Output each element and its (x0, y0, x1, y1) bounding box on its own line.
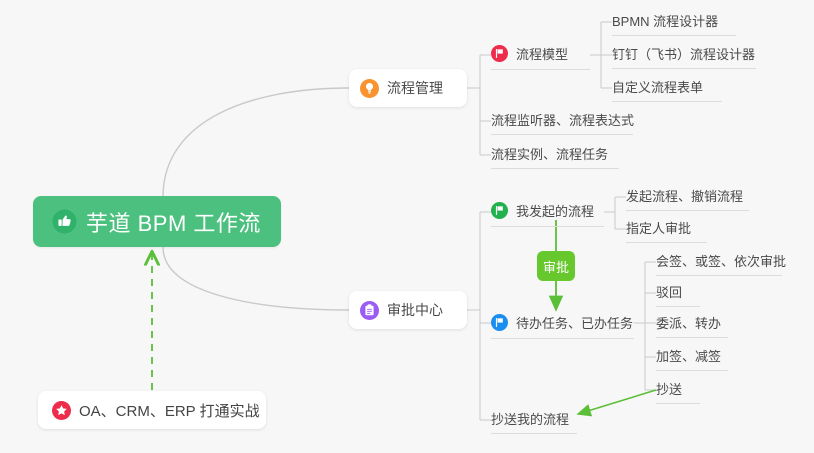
badge-approval-label: 审批 (543, 257, 569, 276)
node-oa-crm-erp-label: OA、CRM、ERP 打通实战 (79, 400, 260, 421)
node-cc-to-me-flows[interactable]: 抄送我的流程 (491, 406, 577, 434)
node-my-initiated-flows-label: 我发起的流程 (516, 201, 594, 220)
lightbulb-icon (360, 79, 379, 98)
node-cc-to-me-flows-label: 抄送我的流程 (491, 409, 569, 428)
badge-approval[interactable]: 审批 (537, 251, 575, 281)
star-icon (52, 401, 71, 420)
node-my-initiated-flows[interactable]: 我发起的流程 (491, 197, 604, 227)
node-todo-done-tasks-label: 待办任务、已办任务 (516, 313, 633, 332)
node-flow-model[interactable]: 流程模型 (491, 40, 590, 70)
node-approval-center-label: 审批中心 (387, 300, 443, 320)
node-countersign-or-sequential-label: 会签、或签、依次审批 (656, 251, 786, 270)
thumbs-up-icon (52, 209, 77, 234)
flag-icon (491, 314, 508, 331)
node-countersign-or-sequential[interactable]: 会签、或签、依次审批 (656, 248, 782, 276)
node-cc-label: 抄送 (656, 379, 682, 398)
flag-icon (491, 45, 508, 62)
node-add-remove-sign[interactable]: 加签、减签 (656, 343, 728, 371)
node-flow-listener-expression[interactable]: 流程监听器、流程表达式 (491, 107, 633, 135)
node-assignee-approval[interactable]: 指定人审批 (626, 215, 707, 243)
node-custom-flow-form-label: 自定义流程表单 (612, 77, 703, 96)
node-start-cancel-flow-label: 发起流程、撤销流程 (626, 186, 743, 205)
root-node[interactable]: 芋道 BPM 工作流 (33, 196, 281, 247)
node-oa-crm-erp[interactable]: OA、CRM、ERP 打通实战 (38, 391, 266, 429)
node-flow-model-label: 流程模型 (516, 44, 568, 63)
node-flow-instance-task-label: 流程实例、流程任务 (491, 144, 608, 163)
node-flow-instance-task[interactable]: 流程实例、流程任务 (491, 141, 619, 169)
clipboard-icon (360, 301, 379, 320)
flag-icon (491, 202, 508, 219)
node-approval-center[interactable]: 审批中心 (349, 291, 467, 329)
node-flow-management[interactable]: 流程管理 (349, 69, 467, 107)
node-bpmn-designer[interactable]: BPMN 流程设计器 (612, 8, 736, 36)
node-reject-label: 驳回 (656, 282, 682, 301)
node-flow-management-label: 流程管理 (387, 78, 443, 98)
node-custom-flow-form[interactable]: 自定义流程表单 (612, 74, 722, 102)
node-dingtalk-feishu-designer[interactable]: 钉钉（飞书）流程设计器 (612, 41, 756, 69)
node-add-remove-sign-label: 加签、减签 (656, 346, 721, 365)
node-delegate-transfer-label: 委派、转办 (656, 313, 721, 332)
node-dingtalk-feishu-designer-label: 钉钉（飞书）流程设计器 (612, 44, 755, 63)
node-cc[interactable]: 抄送 (656, 376, 700, 404)
node-bpmn-designer-label: BPMN 流程设计器 (612, 11, 718, 30)
root-label: 芋道 BPM 工作流 (86, 206, 261, 238)
node-start-cancel-flow[interactable]: 发起流程、撤销流程 (626, 183, 749, 211)
node-flow-listener-expression-label: 流程监听器、流程表达式 (491, 110, 634, 129)
node-assignee-approval-label: 指定人审批 (626, 218, 691, 237)
node-todo-done-tasks[interactable]: 待办任务、已办任务 (491, 309, 634, 339)
node-reject[interactable]: 驳回 (656, 279, 700, 307)
mindmap-canvas: 芋道 BPM 工作流 流程管理 流程模型 BPMN 流程设计器 钉钉（飞书）流程… (0, 0, 814, 453)
node-delegate-transfer[interactable]: 委派、转办 (656, 310, 728, 338)
